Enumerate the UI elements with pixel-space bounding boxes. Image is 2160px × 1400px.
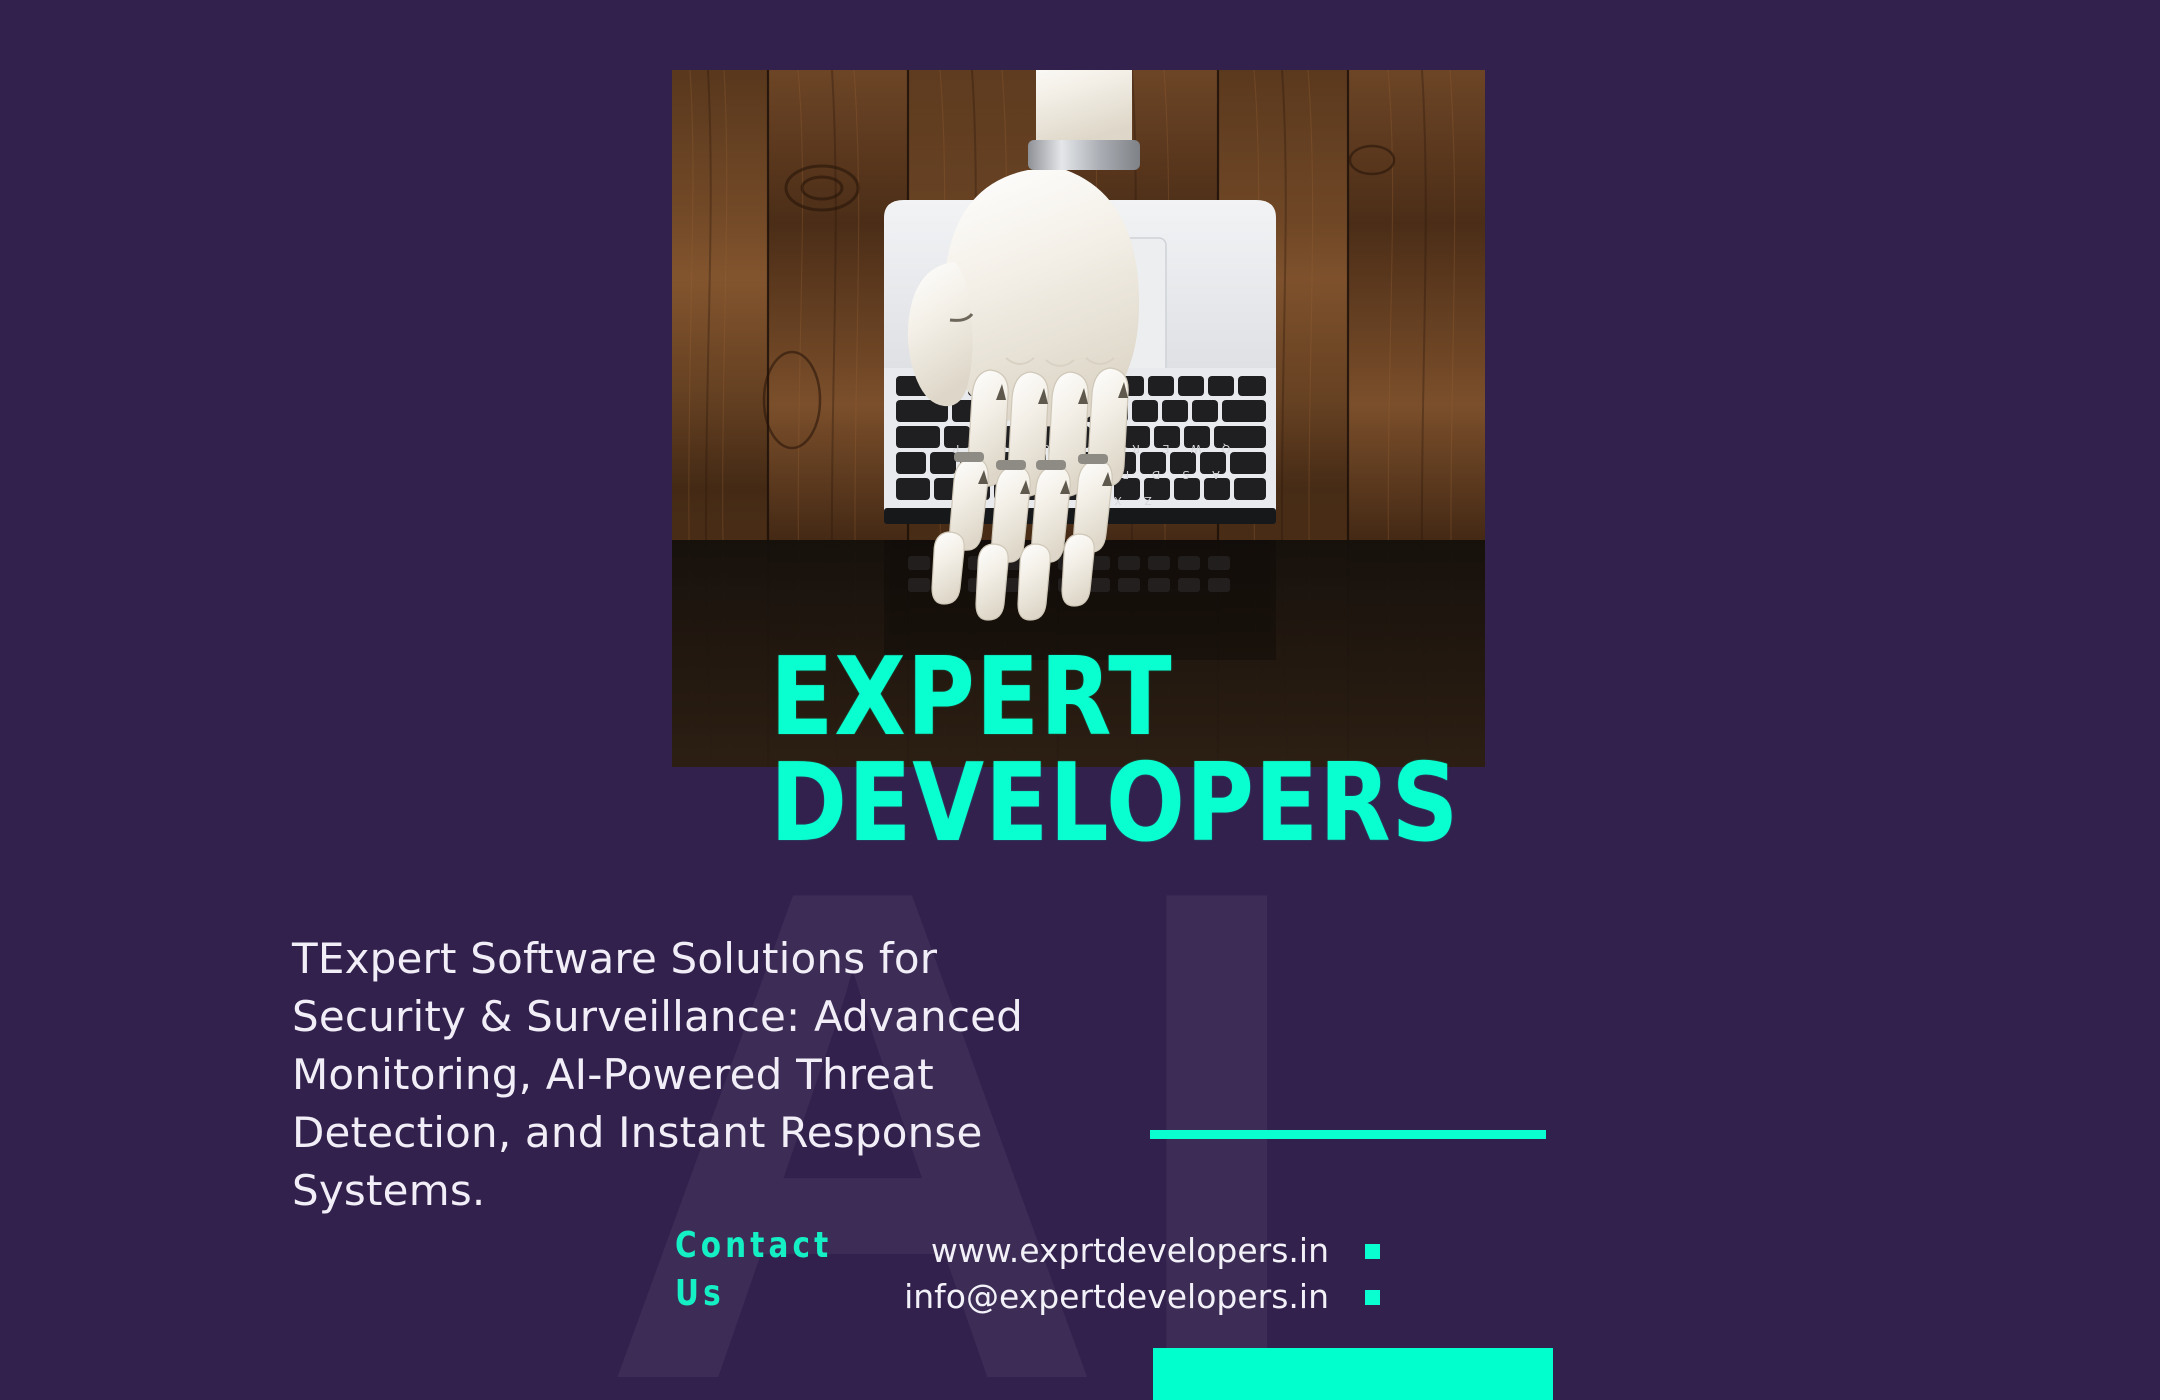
accent-divider [1150, 1130, 1546, 1139]
square-bullet-icon [1365, 1290, 1380, 1305]
page-title: EXPERT DEVELOPERS [770, 645, 1922, 857]
svg-text:D: D [1152, 468, 1160, 481]
square-bullet-icon [1365, 1244, 1380, 1259]
description-text: TExpert Software Solutions for Security … [292, 930, 1062, 1220]
contact-us-label: Contact Us [675, 1222, 839, 1317]
svg-text:A: A [1212, 468, 1220, 481]
contact-row-website[interactable]: www.exprtdevelopers.in [820, 1228, 1380, 1274]
svg-text:S: S [1182, 468, 1189, 481]
svg-text:E: E [1162, 442, 1169, 455]
svg-text:Q: Q [1221, 442, 1230, 455]
website-url[interactable]: www.exprtdevelopers.in [931, 1228, 1329, 1274]
svg-text:W: W [1190, 442, 1201, 455]
svg-text:R: R [1132, 442, 1140, 455]
contact-details: www.exprtdevelopers.in info@expertdevelo… [820, 1228, 1380, 1320]
svg-text:X: X [1114, 494, 1122, 507]
svg-text:Z: Z [1144, 494, 1152, 507]
poster-canvas: AI [0, 0, 2160, 1400]
email-address[interactable]: info@expertdevelopers.in [904, 1274, 1329, 1320]
contact-row-email[interactable]: info@expertdevelopers.in [820, 1274, 1380, 1320]
accent-block [1153, 1348, 1553, 1400]
